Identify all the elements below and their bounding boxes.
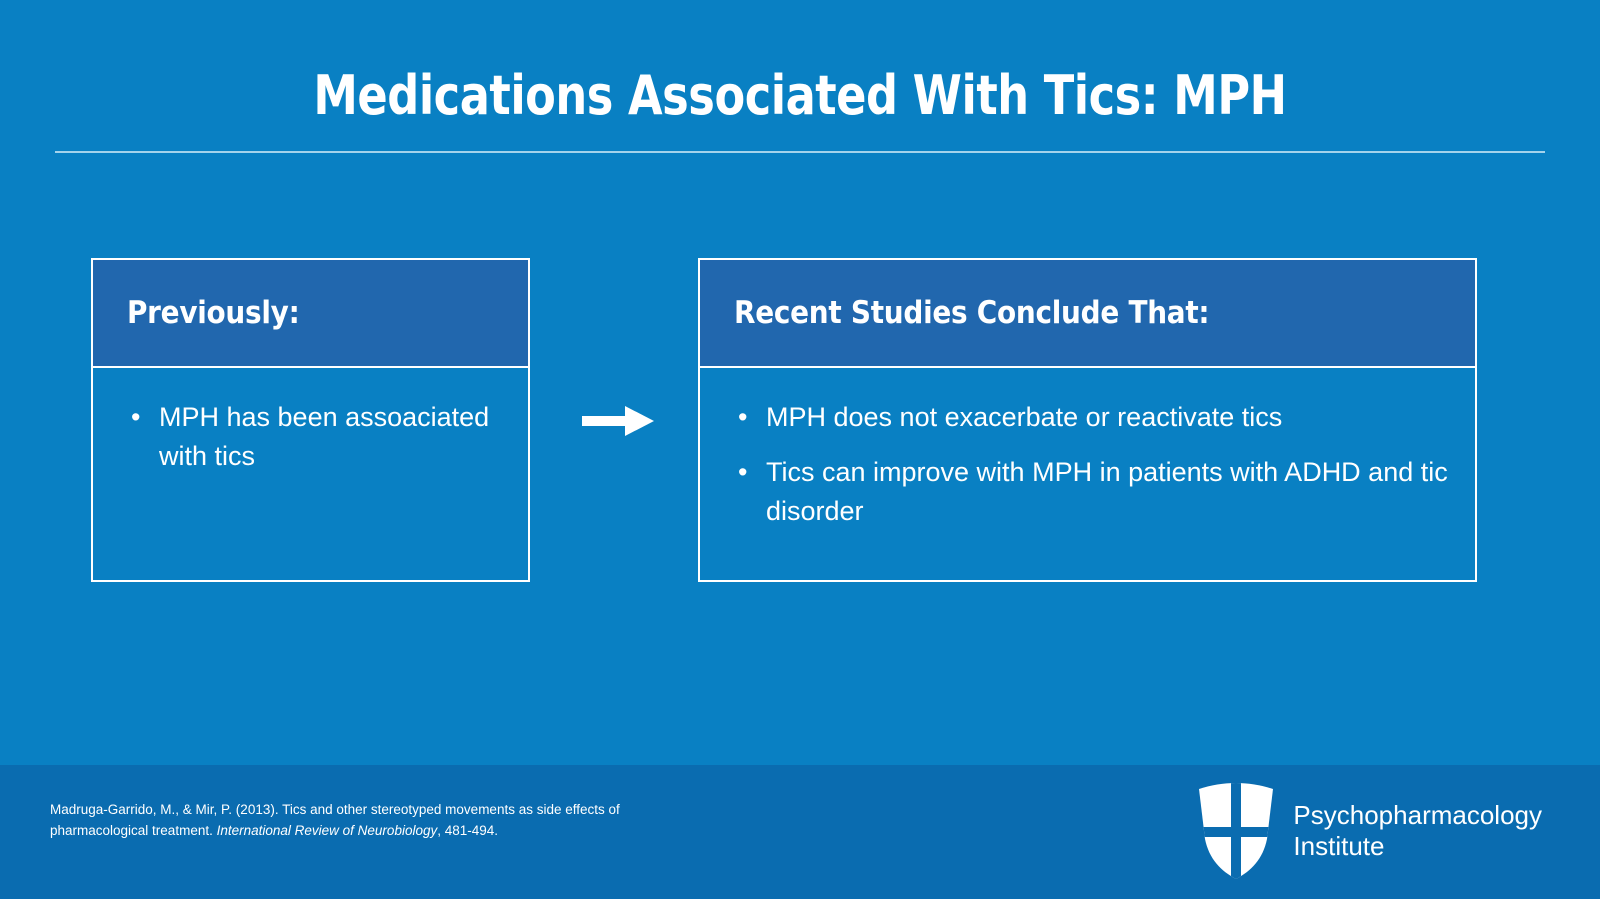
citation-reference: Madruga-Garrido, M., & Mir, P. (2013). T… bbox=[50, 800, 650, 842]
slide-canvas: Medications Associated With Tics: MPH Pr… bbox=[0, 0, 1600, 899]
citation-line-1: Madruga-Garrido, M., & Mir, P. (2013). T… bbox=[50, 802, 561, 817]
brand-lockup: Psychopharmacology Institute bbox=[1197, 783, 1542, 879]
title-divider bbox=[55, 151, 1545, 153]
citation-journal-name: International Review of Neurobiology bbox=[217, 823, 438, 838]
list-item: • Tics can improve with MPH in patients … bbox=[730, 453, 1453, 531]
list-item-text: MPH has been assoaciated with tics bbox=[159, 402, 489, 471]
panel-previously-body: • MPH has been assoaciated with tics bbox=[93, 368, 528, 580]
brand-name: Psychopharmacology Institute bbox=[1293, 800, 1542, 861]
list-item-text: Tics can improve with MPH in patients wi… bbox=[766, 457, 1448, 526]
panel-recent-studies-header: Recent Studies Conclude That: bbox=[700, 260, 1475, 368]
list-item: • MPH does not exacerbate or reactivate … bbox=[730, 398, 1453, 437]
panel-previously: Previously: • MPH has been assoaciated w… bbox=[91, 258, 530, 582]
list-item-text: MPH does not exacerbate or reactivate ti… bbox=[766, 402, 1282, 432]
shield-logo-icon bbox=[1197, 783, 1275, 879]
footer-bar: Madruga-Garrido, M., & Mir, P. (2013). T… bbox=[0, 765, 1600, 899]
arrow-right-icon bbox=[582, 404, 654, 438]
panel-recent-studies-header-label: Recent Studies Conclude That: bbox=[734, 295, 1209, 331]
list-item: • MPH has been assoaciated with tics bbox=[123, 398, 506, 476]
panel-recent-studies-body: • MPH does not exacerbate or reactivate … bbox=[700, 368, 1475, 580]
panel-previously-header: Previously: bbox=[93, 260, 528, 368]
brand-name-line-2: Institute bbox=[1293, 831, 1542, 862]
citation-line-2-post: , 481-494. bbox=[437, 823, 498, 838]
bullet-icon: • bbox=[131, 398, 140, 437]
bullet-icon: • bbox=[738, 398, 747, 437]
panel-previously-header-label: Previously: bbox=[127, 295, 299, 331]
page-title: Medications Associated With Tics: MPH bbox=[64, 66, 1536, 125]
bullet-icon: • bbox=[738, 453, 747, 492]
panel-previously-bullet-list: • MPH has been assoaciated with tics bbox=[123, 398, 506, 476]
panel-recent-studies: Recent Studies Conclude That: • MPH does… bbox=[698, 258, 1477, 582]
brand-name-line-1: Psychopharmacology bbox=[1293, 800, 1542, 830]
panel-recent-studies-bullet-list: • MPH does not exacerbate or reactivate … bbox=[730, 398, 1453, 531]
